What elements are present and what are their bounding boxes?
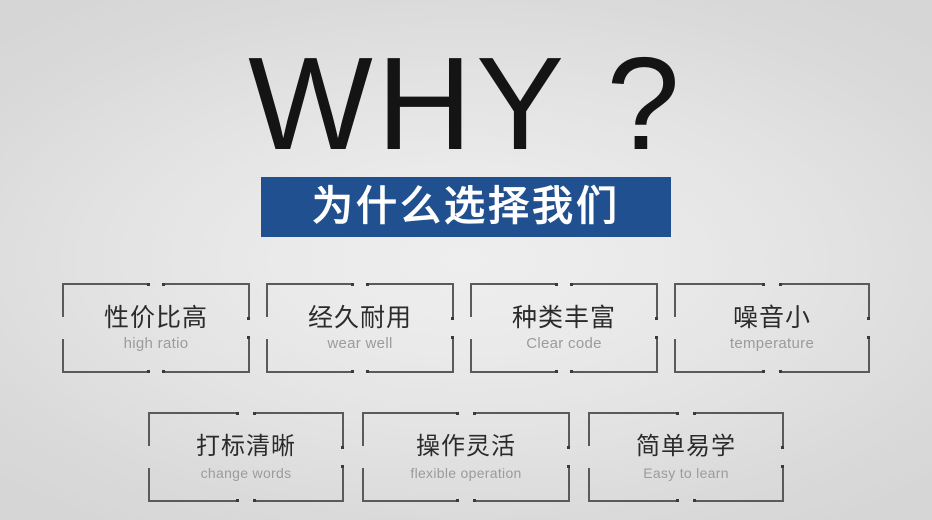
banner-wrapper: 为什么选择我们 [0,177,932,237]
frame-dot-bottom-right [473,499,476,502]
frame-corner-top-right-icon [801,283,870,316]
frame-edge-right-top [342,414,344,446]
frame-dot-right-bottom [655,336,658,339]
frame-edge-left-bottom [588,468,590,500]
frame-dot-bottom-right [253,499,256,502]
feature-card-flexible-operation[interactable]: 操作灵活 flexible operation [362,412,570,502]
frame-edge-left-top [674,285,676,317]
frame-corner-bottom-left-icon [62,340,128,373]
frame-edge-bottom-right [165,371,248,373]
frame-dot-bottom-right [570,370,573,373]
frame-edge-top-left [590,412,676,414]
poster-canvas: WHY ? 为什么选择我们 性价比高 h [0,0,932,520]
feature-card-clear-code[interactable]: 种类丰富 Clear code [470,283,658,373]
subtitle-banner: 为什么选择我们 [261,177,671,237]
frame-dot-right-top [451,317,454,320]
frame-dot-right-bottom [451,336,454,339]
frame-edge-bottom-right [256,500,342,502]
frame-dot-bottom-right [162,370,165,373]
frame-edge-right-bottom [342,468,344,500]
frame-dot-right-bottom [567,465,570,468]
feature-title-en: temperature [730,335,814,353]
frame-edge-right-top [782,414,784,446]
frame-dot-top-left [351,283,354,286]
frame-edge-bottom-left [150,500,236,502]
frame-dot-bottom-left [676,499,679,502]
frame-edge-left-top [588,414,590,446]
feature-title-cn: 噪音小 [733,303,811,333]
frame-dot-top-right [570,283,573,286]
frame-edge-top-right [782,283,868,285]
frame-dot-bottom-left [555,370,558,373]
frame-dot-top-right [473,412,476,415]
feature-title-cn: 性价比高 [104,303,208,333]
headline-block: WHY ? [0,38,932,170]
frame-edge-top-right [165,283,248,285]
feature-title-en: Easy to learn [643,464,729,482]
feature-card-high-ratio[interactable]: 性价比高 high ratio [62,283,250,373]
feature-card-low-noise[interactable]: 噪音小 temperature [674,283,870,373]
frame-edge-bottom-left [364,500,456,502]
frame-dot-top-left [236,412,239,415]
frame-edge-top-left [472,283,555,285]
feature-card-wear-well[interactable]: 经久耐用 wear well [266,283,454,373]
frame-edge-left-top [148,414,150,446]
frame-edge-left-bottom [362,468,364,500]
frame-dot-right-top [867,317,870,320]
frame-edge-right-top [248,285,250,317]
frame-corner-bottom-right-icon [592,340,658,373]
frame-dot-right-top [781,446,784,449]
frame-dot-top-right [779,283,782,286]
feature-card-easy-to-learn[interactable]: 简单易学 Easy to learn [588,412,784,502]
frame-dot-bottom-left [351,370,354,373]
frame-dot-top-left [555,283,558,286]
frame-dot-right-bottom [781,465,784,468]
frame-edge-top-right [696,412,782,414]
frame-edge-right-top [868,285,870,317]
frame-edge-bottom-right [782,371,868,373]
frame-dot-top-left [676,412,679,415]
frame-edge-bottom-left [472,371,555,373]
frame-corner-bottom-left-icon [266,340,332,373]
frame-edge-left-top [470,285,472,317]
frame-edge-left-bottom [470,339,472,371]
frame-edge-left-top [362,414,364,446]
frame-edge-left-top [266,285,268,317]
feature-title-en: Clear code [526,335,602,353]
frame-dot-bottom-right [779,370,782,373]
feature-title-cn: 经久耐用 [308,303,412,333]
frame-edge-left-top [62,285,64,317]
frame-dot-top-left [147,283,150,286]
frame-edge-bottom-right [476,500,568,502]
frame-edge-top-left [64,283,147,285]
frame-edge-bottom-right [369,371,452,373]
frame-dot-right-bottom [867,336,870,339]
frame-dot-top-left [456,412,459,415]
frame-dot-top-right [162,283,165,286]
frame-dot-top-right [693,412,696,415]
frame-dot-bottom-left [236,499,239,502]
frame-edge-bottom-left [590,500,676,502]
feature-title-en: flexible operation [410,464,521,482]
frame-dot-top-left [762,283,765,286]
frame-edge-right-top [568,414,570,446]
frame-edge-top-left [364,412,456,414]
frame-edge-top-left [268,283,351,285]
frame-dot-right-top [655,317,658,320]
feature-row-top: 性价比高 high ratio 经久耐用 wear well [0,283,932,373]
frame-edge-right-bottom [452,339,454,371]
feature-card-change-words[interactable]: 打标清晰 change words [148,412,344,502]
frame-edge-right-bottom [568,468,570,500]
frame-edge-right-bottom [248,339,250,371]
frame-edge-top-right [476,412,568,414]
frame-dot-right-top [341,446,344,449]
frame-edge-right-top [656,285,658,317]
frame-dot-right-top [567,446,570,449]
frame-edge-bottom-left [676,371,762,373]
why-title: WHY ? [248,38,684,170]
frame-edge-top-left [676,283,762,285]
frame-dot-right-top [247,317,250,320]
feature-title-cn: 种类丰富 [512,303,616,333]
frame-dot-bottom-right [693,499,696,502]
feature-row-bottom: 打标清晰 change words 操作灵活 flexible operatio… [0,412,932,502]
frame-edge-bottom-left [64,371,147,373]
frame-edge-bottom-right [696,500,782,502]
frame-edge-top-right [369,283,452,285]
frame-edge-left-bottom [148,468,150,500]
frame-edge-top-left [150,412,236,414]
frame-edge-left-bottom [266,339,268,371]
feature-title-en: wear well [327,335,392,353]
feature-title-en: high ratio [124,335,189,353]
frame-dot-top-right [253,412,256,415]
subtitle-text: 为什么选择我们 [281,184,651,228]
frame-edge-left-bottom [62,339,64,371]
feature-title-cn: 简单易学 [636,432,736,462]
feature-title-cn: 打标清晰 [196,432,296,462]
feature-title-cn: 操作灵活 [416,432,516,462]
frame-dot-right-bottom [341,465,344,468]
frame-edge-bottom-left [268,371,351,373]
feature-title-en: change words [201,464,292,482]
frame-dot-right-bottom [247,336,250,339]
frame-corner-bottom-right-icon [184,340,250,373]
frame-edge-right-top [452,285,454,317]
frame-dot-bottom-left [147,370,150,373]
frame-dot-top-right [366,283,369,286]
frame-edge-right-bottom [656,339,658,371]
frame-dot-bottom-left [762,370,765,373]
frame-dot-bottom-left [456,499,459,502]
frame-edge-top-right [256,412,342,414]
frame-corner-bottom-right-icon [388,340,454,373]
frame-edge-right-bottom [782,468,784,500]
frame-edge-right-bottom [868,339,870,371]
frame-dot-bottom-right [366,370,369,373]
frame-edge-top-right [573,283,656,285]
frame-edge-left-bottom [674,339,676,371]
frame-edge-bottom-right [573,371,656,373]
